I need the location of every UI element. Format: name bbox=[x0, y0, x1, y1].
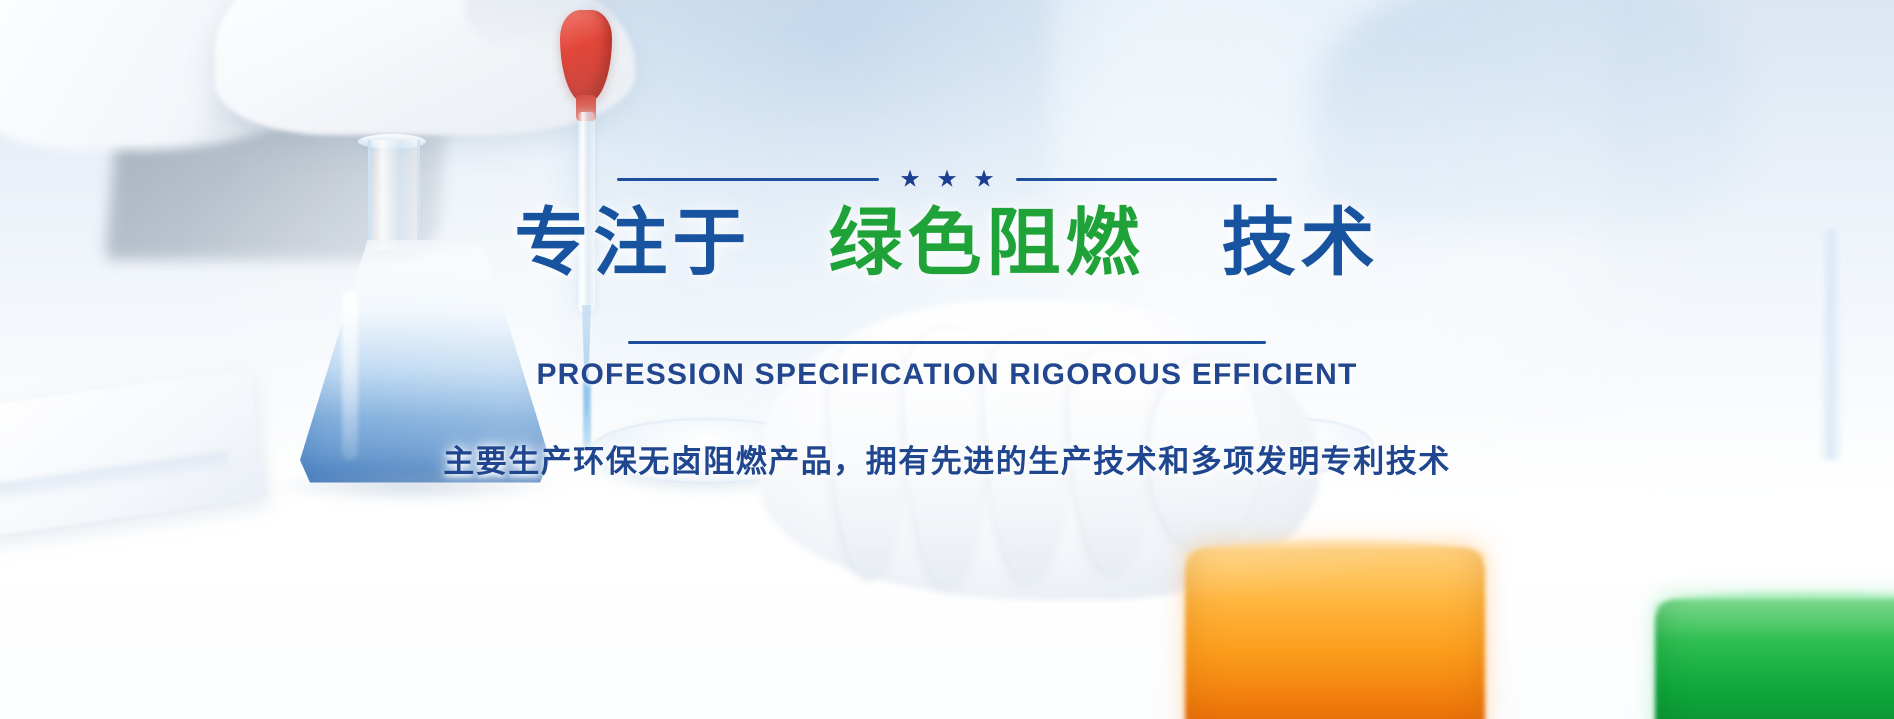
divider-rule-right bbox=[1016, 178, 1278, 181]
banner-content: 专注于 绿色阻燃 技术 PROFESSION SPECIFICATION RIG… bbox=[0, 0, 1894, 719]
star-icon bbox=[901, 170, 920, 189]
star-icon bbox=[938, 170, 957, 189]
hero-banner: 专注于 绿色阻燃 技术 PROFESSION SPECIFICATION RIG… bbox=[0, 0, 1894, 719]
subtitle-english: PROFESSION SPECIFICATION RIGOROUS EFFICI… bbox=[536, 358, 1357, 392]
divider-stars bbox=[879, 170, 1016, 189]
star-divider bbox=[617, 168, 1277, 190]
divider-rule-left bbox=[617, 178, 879, 181]
page-title: 专注于 绿色阻燃 技术 bbox=[514, 204, 1379, 282]
headline-underline bbox=[628, 341, 1266, 344]
star-icon bbox=[975, 170, 994, 189]
headline-part-3: 技术 bbox=[1222, 201, 1380, 284]
headline-part-1: 专注于 bbox=[514, 201, 751, 284]
tagline-chinese: 主要生产环保无卤阻燃产品，拥有先进的生产技术和多项发明专利技术 bbox=[443, 436, 1451, 481]
headline-part-2: 绿色阻燃 bbox=[829, 201, 1145, 284]
